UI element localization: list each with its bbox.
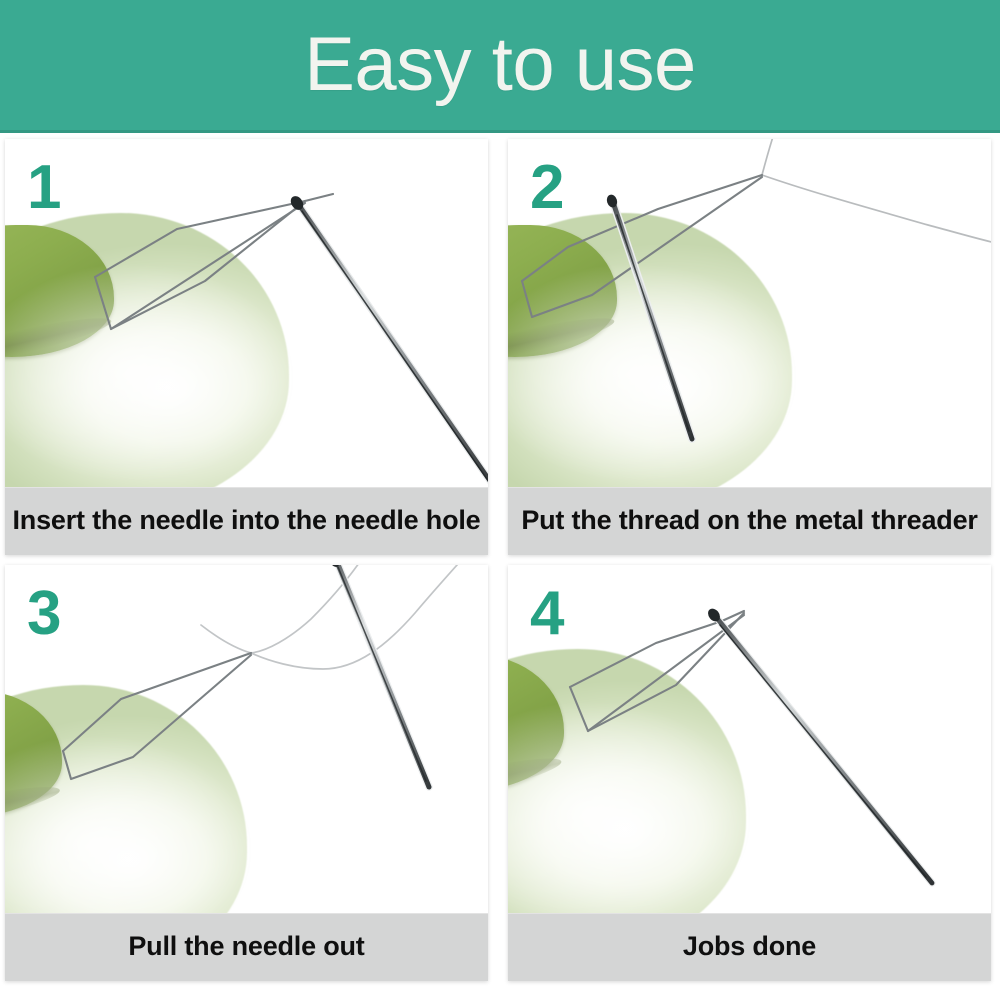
threader-device-1 <box>5 213 289 487</box>
step-3-illustration: 3 <box>5 565 488 913</box>
page-header: Easy to use <box>0 0 1000 133</box>
threader-wire-3 <box>63 653 251 779</box>
sewing-thread-3 <box>201 565 475 669</box>
step-number-2: 2 <box>530 157 564 219</box>
step-number-4: 4 <box>530 583 564 645</box>
step-panel-4[interactable]: 4 <box>508 565 991 981</box>
step-2-illustration: 2 <box>508 139 991 487</box>
page-title: Easy to use <box>304 27 696 103</box>
step-panel-3[interactable]: 3 <box>5 565 488 981</box>
threader-device-4 <box>508 649 746 913</box>
sewing-needle-3 <box>328 565 429 787</box>
step-2-caption-text: Put the thread on the metal threader <box>521 506 977 536</box>
step-4-caption-text: Jobs done <box>683 932 816 962</box>
metal-threader-and-needle-4 <box>508 565 991 913</box>
steps-grid: 1 <box>5 139 995 989</box>
step-number-3: 3 <box>27 583 61 645</box>
step-4-illustration: 4 <box>508 565 991 913</box>
step-1-caption-text: Insert the needle into the needle hole <box>13 506 481 536</box>
needle-pulled-out-with-thread-3 <box>5 565 488 913</box>
step-3-caption-text: Pull the needle out <box>128 932 364 962</box>
metal-threader-needle-and-thread-2 <box>508 139 991 487</box>
step-1-illustration: 1 <box>5 139 488 487</box>
step-panel-1[interactable]: 1 <box>5 139 488 555</box>
threader-device-2 <box>508 213 792 487</box>
step-4-caption-bar: Jobs done <box>508 913 991 981</box>
metal-threader-and-needle-1 <box>5 139 488 487</box>
step-1-caption-bar: Insert the needle into the needle hole <box>5 487 488 555</box>
threader-wire-4 <box>570 611 744 731</box>
step-2-caption-bar: Put the thread on the metal threader <box>508 487 991 555</box>
threader-device-3 <box>5 685 247 913</box>
sewing-needle-4 <box>706 606 932 883</box>
sewing-needle-1 <box>288 194 488 487</box>
threader-wire-1 <box>95 194 333 329</box>
step-panel-2[interactable]: 2 <box>508 139 991 555</box>
step-number-1: 1 <box>27 157 61 219</box>
sewing-thread-2 <box>762 139 991 243</box>
sewing-needle-2 <box>605 193 692 439</box>
step-3-caption-bar: Pull the needle out <box>5 913 488 981</box>
